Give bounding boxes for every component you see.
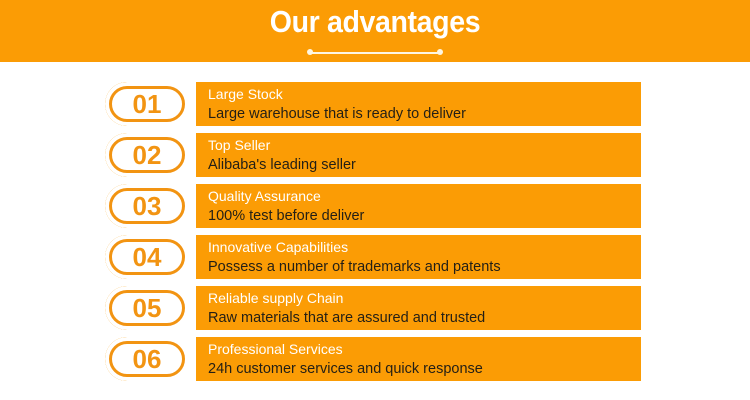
- advantage-number: 06: [109, 341, 185, 377]
- advantage-title: Quality Assurance: [208, 186, 635, 206]
- banner-header: Our advantages: [0, 0, 750, 62]
- advantage-number: 04: [109, 239, 185, 275]
- advantage-text-block: Top Seller Alibaba's leading seller: [208, 135, 635, 175]
- list-item: 03 Quality Assurance 100% test before de…: [105, 184, 641, 228]
- advantage-text-block: Innovative Capabilities Possess a number…: [208, 237, 635, 277]
- advantage-text-block: Professional Services 24h customer servi…: [208, 339, 635, 379]
- advantages-list: 01 Large Stock Large warehouse that is r…: [105, 82, 641, 388]
- advantage-description: Raw materials that are assured and trust…: [208, 308, 635, 328]
- advantage-title: Innovative Capabilities: [208, 237, 635, 257]
- advantage-text-block: Large Stock Large warehouse that is read…: [208, 84, 635, 124]
- list-item: 06 Professional Services 24h customer se…: [105, 337, 641, 381]
- advantage-title: Reliable supply Chain: [208, 288, 635, 308]
- advantage-text-block: Quality Assurance 100% test before deliv…: [208, 186, 635, 226]
- advantage-description: Possess a number of trademarks and paten…: [208, 257, 635, 277]
- advantage-number: 03: [109, 188, 185, 224]
- list-item: 02 Top Seller Alibaba's leading seller: [105, 133, 641, 177]
- divider-line: [311, 52, 439, 54]
- list-item: 05 Reliable supply Chain Raw materials t…: [105, 286, 641, 330]
- advantages-banner: Our advantages 01 Large Stock Large ware…: [0, 0, 750, 400]
- advantage-text-block: Reliable supply Chain Raw materials that…: [208, 288, 635, 328]
- advantage-title: Top Seller: [208, 135, 635, 155]
- list-item: 04 Innovative Capabilities Possess a num…: [105, 235, 641, 279]
- advantage-number: 02: [109, 137, 185, 173]
- advantage-number: 05: [109, 290, 185, 326]
- list-item: 01 Large Stock Large warehouse that is r…: [105, 82, 641, 126]
- dotted-line-divider-icon: [307, 49, 443, 56]
- advantage-description: Large warehouse that is ready to deliver: [208, 104, 635, 124]
- advantage-description: 24h customer services and quick response: [208, 359, 635, 379]
- advantage-description: 100% test before deliver: [208, 206, 635, 226]
- page-title: Our advantages: [30, 4, 720, 40]
- advantage-title: Professional Services: [208, 339, 635, 359]
- advantage-description: Alibaba's leading seller: [208, 155, 635, 175]
- advantage-title: Large Stock: [208, 84, 635, 104]
- divider-dot-right-icon: [437, 49, 443, 55]
- advantage-number: 01: [109, 86, 185, 122]
